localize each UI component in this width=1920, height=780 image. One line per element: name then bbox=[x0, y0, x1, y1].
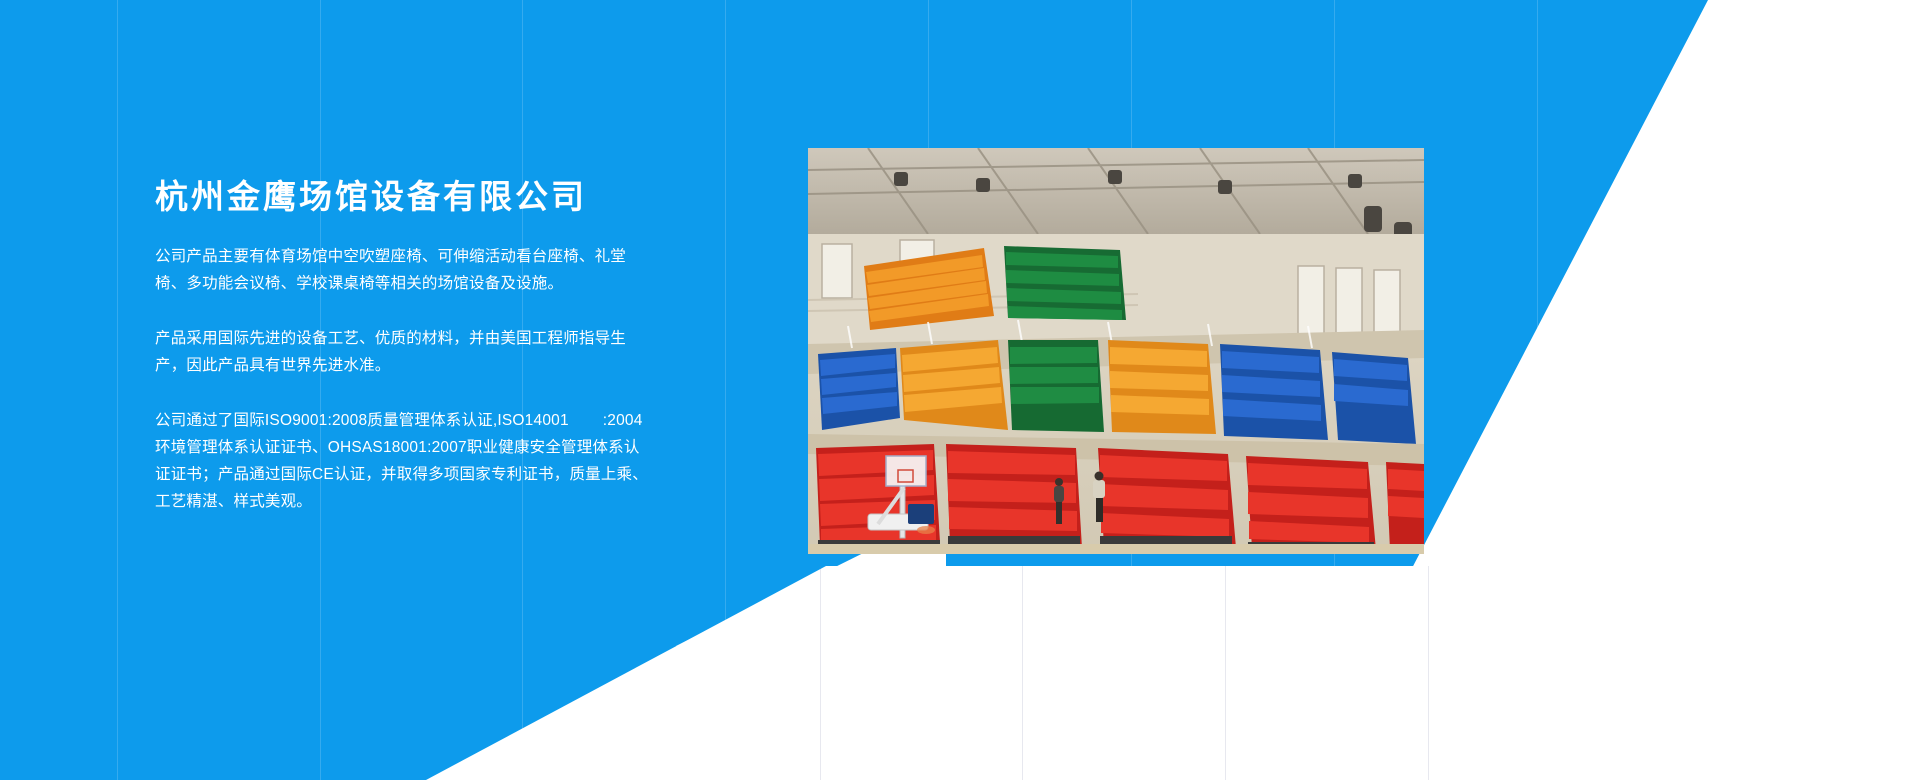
gymnasium-photo bbox=[808, 148, 1424, 554]
paragraph-products-line-2: 功能会议椅、学校课桌椅等相关的场馆设备及设施。 bbox=[202, 275, 563, 292]
hero-banner: 杭州金鹰场馆设备有限公司 公司产品主要有体育场馆中空吹塑座椅、可伸缩活动看台座椅… bbox=[0, 0, 1920, 780]
paragraph-products: 公司产品主要有体育场馆中空吹塑座椅、可伸缩活动看台座椅、礼堂椅、多功能会议椅、学… bbox=[155, 243, 655, 297]
paragraph-certifications-line-5: 式美观。 bbox=[249, 493, 312, 510]
banner-text-column: 杭州金鹰场馆设备有限公司 公司产品主要有体育场馆中空吹塑座椅、可伸缩活动看台座椅… bbox=[155, 176, 675, 515]
paragraph-manufacturing-line-2: 此产品具有世界先进水准。 bbox=[202, 357, 390, 374]
gymnasium-photo-illustration bbox=[808, 148, 1424, 554]
paragraph-certifications: 公司通过了国际ISO9001:2008质量管理体系认证,ISO14001:200… bbox=[155, 407, 655, 515]
company-title: 杭州金鹰场馆设备有限公司 bbox=[155, 176, 675, 217]
paragraph-manufacturing: 产品采用国际先进的设备工艺、优质的材料，并由美国工程师指导生产，因此产品具有世界… bbox=[155, 325, 655, 379]
paragraph-certifications-line-4: 产品通过国际CE认证，并取得多项国家专利证书，质量上乘、工艺精湛、样 bbox=[155, 466, 648, 510]
paragraph-certifications-line-1: 公司通过了国际ISO9001:2008质量管理体系认证,ISO14001 bbox=[155, 412, 569, 429]
